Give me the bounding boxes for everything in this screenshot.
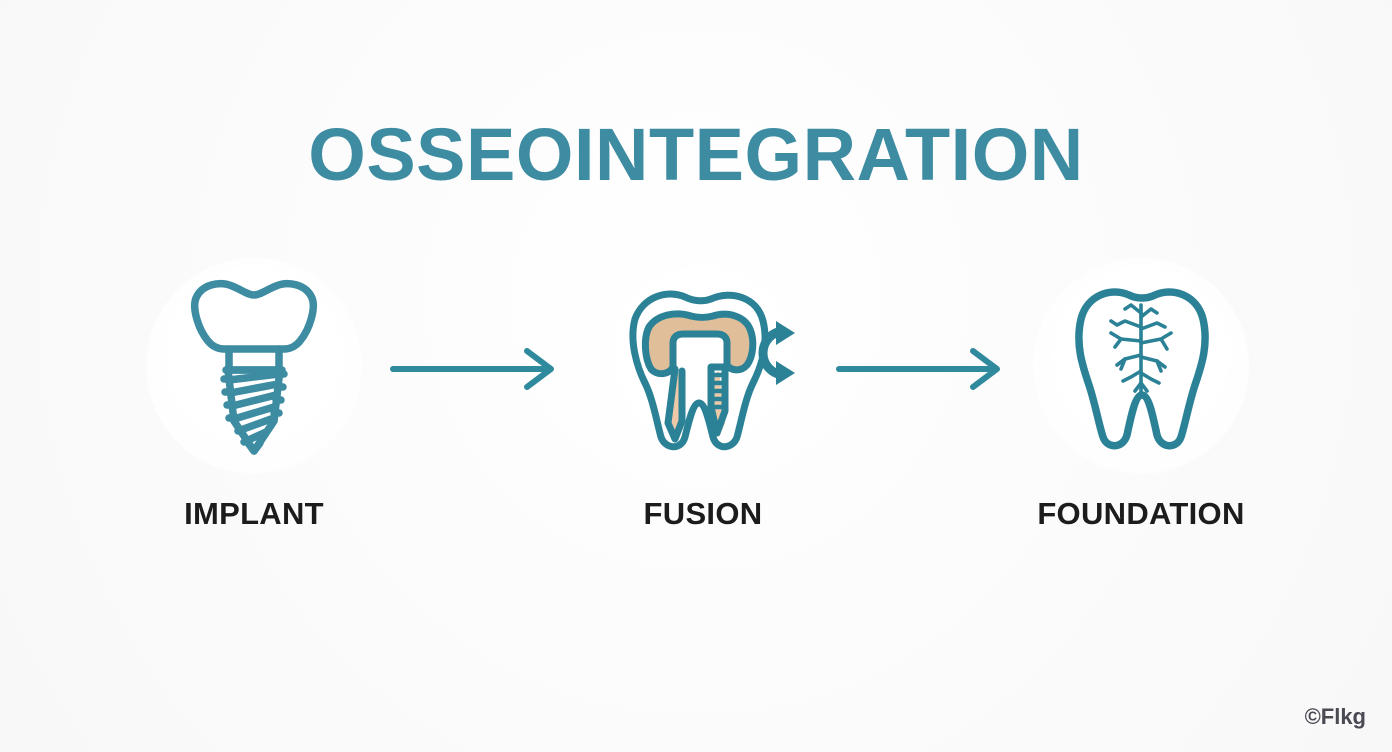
- step-label-implant: IMPLANT: [140, 496, 368, 532]
- watermark: ©Flkg: [1305, 704, 1366, 730]
- tooth-bone-fusion-icon: [605, 271, 801, 461]
- icon-badge-fusion: [595, 258, 811, 474]
- step-foundation[interactable]: FOUNDATION: [1027, 258, 1255, 548]
- nerve-branches: [1111, 305, 1171, 393]
- infographic-canvas: OSSEOINTEGRATION: [0, 0, 1392, 752]
- icon-badge-foundation: [1033, 258, 1249, 474]
- bone-fill: [645, 314, 752, 374]
- arrow-right-icon: [835, 345, 1015, 393]
- step-fusion[interactable]: FUSION: [589, 258, 817, 548]
- steps-row: IMPLANT: [0, 258, 1392, 548]
- connector-arrow-1: [389, 345, 569, 393]
- step-implant[interactable]: IMPLANT: [140, 258, 368, 548]
- step-label-foundation: FOUNDATION: [1027, 496, 1255, 532]
- connector-arrow-2: [835, 345, 1015, 393]
- arrow-right-icon: [389, 345, 569, 393]
- dental-implant-screw-icon: [166, 271, 342, 461]
- icon-badge-implant: [146, 258, 362, 474]
- tooth-nerve-foundation-icon: [1053, 271, 1229, 461]
- step-label-fusion: FUSION: [589, 496, 817, 532]
- page-title: OSSEOINTEGRATION: [0, 118, 1392, 192]
